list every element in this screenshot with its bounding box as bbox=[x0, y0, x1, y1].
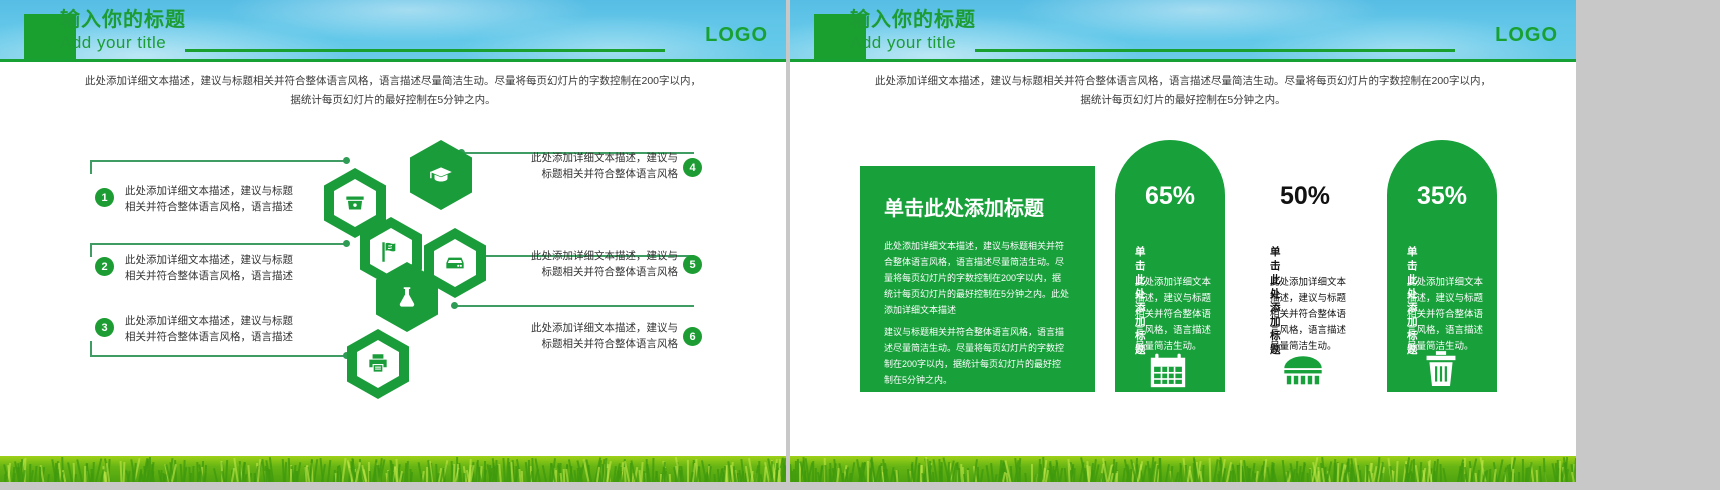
bullet-text-6: 此处添加详细文本描述，建议与 标题相关并符合整体语言风格 bbox=[530, 320, 678, 352]
bullet-number-6: 6 bbox=[683, 327, 702, 346]
stat-icon-3 bbox=[1424, 350, 1458, 393]
bullet-number-5: 5 bbox=[683, 255, 702, 274]
stat-icon-2 bbox=[1280, 352, 1326, 391]
bucket-icon bbox=[342, 190, 368, 216]
connector-line-1 bbox=[90, 160, 348, 162]
connector-elbow-3 bbox=[90, 341, 92, 355]
slide-right[interactable]: 输入你的标题 Add your title LOGO 此处添加详细文本描述，建议… bbox=[790, 0, 1576, 482]
stat-percent-3: 35% bbox=[1387, 182, 1497, 211]
flag-icon bbox=[378, 239, 404, 265]
bullet-number-4: 4 bbox=[683, 158, 702, 177]
logo-text: LOGO bbox=[705, 24, 768, 47]
printer-icon bbox=[365, 351, 391, 377]
stat-percent-1: 65% bbox=[1115, 182, 1225, 211]
connector-elbow-1 bbox=[90, 160, 92, 174]
slide-title-group-2: 输入你的标题 Add your title bbox=[850, 8, 976, 54]
bullet-number-1: 1 bbox=[95, 188, 114, 207]
intro-paragraph-2: 此处添加详细文本描述，建议与标题相关并符合整体语言风格，语言描述尽量简洁生动。尽… bbox=[790, 72, 1576, 110]
slide-title-group: 输入你的标题 Add your title bbox=[60, 8, 186, 54]
sky-header-banner: 输入你的标题 Add your title LOGO bbox=[0, 0, 786, 62]
connector-dot-6 bbox=[451, 302, 458, 309]
stat-icon-1 bbox=[1147, 352, 1189, 393]
panel-paragraph-2: 建议与标题相关并符合整体语言风格，语言描述尽量简洁生动。尽量将每页幻灯片的字数控… bbox=[884, 324, 1070, 388]
presentation-canvas: 输入你的标题 Add your title LOGO 此处添加详细文本描述，建议… bbox=[0, 0, 1720, 490]
stat-body-3: 此处添加详细文本描述，建议与标题相关并符合整体语言风格，语言描述尽量简洁生动。 bbox=[1407, 275, 1483, 355]
bullet-text-5: 此处添加详细文本描述，建议与 标题相关并符合整体语言风格 bbox=[530, 248, 678, 280]
grass-footer-left bbox=[0, 456, 786, 482]
graduation-cap-icon bbox=[428, 162, 454, 188]
slide-title-cn-2: 输入你的标题 bbox=[850, 8, 976, 32]
panel-green-card[interactable]: 单击此处添加标题 此处添加详细文本描述，建议与标题相关并符合整体语言风格，语言描… bbox=[860, 166, 1095, 392]
stat-body-1: 此处添加详细文本描述，建议与标题相关并符合整体语言风格，语言描述尽量简洁生动。 bbox=[1135, 275, 1211, 355]
sky-header-banner-2: 输入你的标题 Add your title LOGO bbox=[790, 0, 1576, 62]
bullet-text-2: 此处添加详细文本描述，建议与标题 相关并符合整体语言风格，语言描述 bbox=[125, 252, 293, 284]
intro-line-1-2: 此处添加详细文本描述，建议与标题相关并符合整体语言风格，语言描述尽量简洁生动。尽… bbox=[790, 72, 1576, 91]
server-icon bbox=[442, 250, 468, 276]
connector-elbow-2 bbox=[90, 243, 92, 257]
panel-title: 单击此处添加标题 bbox=[884, 196, 1044, 222]
stat-body-2: 此处添加详细文本描述，建议与标题相关并符合整体语言风格，语言描述尽量简洁生动。 bbox=[1270, 275, 1346, 355]
flask-icon bbox=[394, 284, 420, 310]
panel-paragraph-1: 此处添加详细文本描述，建议与标题相关并符合整体语言风格，语言描述尽量简洁生动。尽… bbox=[884, 238, 1070, 318]
grass-footer-right bbox=[790, 456, 1576, 482]
bullet-text-4: 此处添加详细文本描述，建议与 标题相关并符合整体语言风格 bbox=[530, 150, 678, 182]
slide-title-cn: 输入你的标题 bbox=[60, 8, 186, 32]
intro-line-2: 据统计每页幻灯片的最好控制在5分钟之内。 bbox=[0, 91, 786, 110]
intro-line-2-2: 据统计每页幻灯片的最好控制在5分钟之内。 bbox=[790, 91, 1576, 110]
calendar-icon bbox=[1147, 352, 1189, 388]
connector-line-6 bbox=[455, 305, 694, 307]
archive-icon bbox=[1280, 352, 1326, 386]
slide-title-en: Add your title bbox=[60, 32, 186, 54]
slide-title-en-2: Add your title bbox=[850, 32, 976, 54]
connector-dot-1 bbox=[343, 157, 350, 164]
connector-line-2 bbox=[90, 243, 348, 245]
title-underline-rule-2 bbox=[975, 49, 1455, 52]
trash-icon bbox=[1424, 350, 1458, 388]
title-underline-rule bbox=[185, 49, 665, 52]
bullet-number-3: 3 bbox=[95, 318, 114, 337]
bullet-text-3: 此处添加详细文本描述，建议与标题 相关并符合整体语言风格，语言描述 bbox=[125, 313, 293, 345]
connector-dot-2 bbox=[343, 240, 350, 247]
intro-paragraph: 此处添加详细文本描述，建议与标题相关并符合整体语言风格，语言描述尽量简洁生动。尽… bbox=[0, 72, 786, 110]
hex-printer[interactable] bbox=[347, 329, 409, 399]
bullet-text-1: 此处添加详细文本描述，建议与标题 相关并符合整体语言风格，语言描述 bbox=[125, 183, 293, 215]
logo-text-2: LOGO bbox=[1495, 24, 1558, 47]
connector-line-3 bbox=[90, 355, 348, 357]
intro-line-1: 此处添加详细文本描述，建议与标题相关并符合整体语言风格，语言描述尽量简洁生动。尽… bbox=[0, 72, 786, 91]
slide-left[interactable]: 输入你的标题 Add your title LOGO 此处添加详细文本描述，建议… bbox=[0, 0, 786, 482]
bullet-number-2: 2 bbox=[95, 257, 114, 276]
stat-percent-2: 50% bbox=[1250, 182, 1360, 211]
